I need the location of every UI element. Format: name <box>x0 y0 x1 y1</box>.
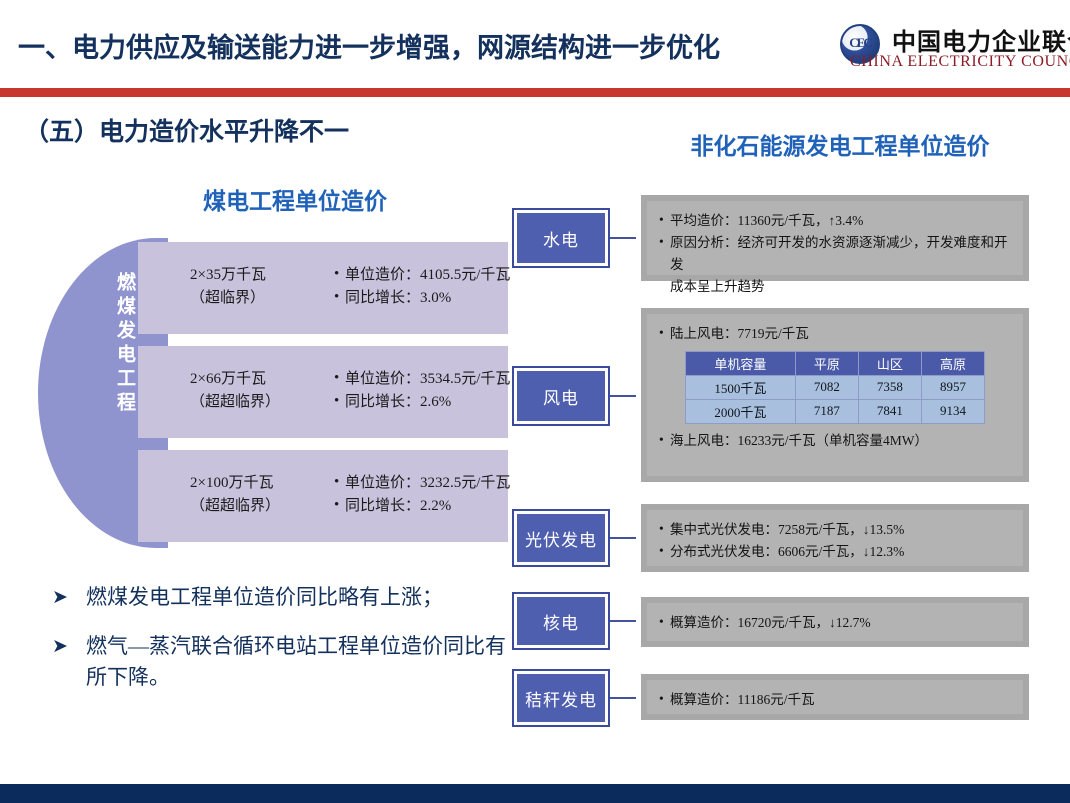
summary-notes: ➤ 燃煤发电工程单位造价同比略有上涨； ➤ 燃气—蒸汽联合循环电站工程单位造价同… <box>40 582 510 711</box>
connector-wind <box>610 395 638 397</box>
coal-diagram: 燃煤发电工程 2×35万千瓦 （超临界） 单位造价：4105.5元/千瓦 同比增… <box>38 238 508 548</box>
panel-wind: 陆上风电：7719元/千瓦 单机容量 平原 山区 高原 1500千瓦 7082 … <box>636 303 1034 487</box>
straw-budget-cost: 概算造价：11186元/千瓦 <box>659 689 1011 711</box>
category-wind[interactable]: 风电 <box>512 366 610 426</box>
coal-capacity-type: （超超临界） <box>190 391 330 414</box>
panel-solar-content: 集中式光伏发电：7258元/千瓦，↓13.5% 分布式光伏发电：6606元/千瓦… <box>647 510 1023 566</box>
cell-capacity: 1500千瓦 <box>686 375 796 399</box>
arrow-bullet-icon: ➤ <box>52 583 68 612</box>
coal-capacity-type: （超超临界） <box>190 495 330 518</box>
panel-wind-content: 陆上风电：7719元/千瓦 单机容量 平原 山区 高原 1500千瓦 7082 … <box>647 314 1023 476</box>
panel-nuclear-content: 概算造价：16720元/千瓦，↓12.7% <box>647 603 1023 641</box>
hydro-cause-analysis: 原因分析：经济可开发的水资源逐渐减少，开发难度和开发 成本呈上升趋势 <box>659 232 1011 298</box>
connector-straw <box>610 697 638 699</box>
connector-nuclear <box>610 620 638 622</box>
coal-capacity-type: （超临界） <box>190 287 330 310</box>
coal-yoy-growth: 同比增长：3.0% <box>334 287 510 310</box>
cell-mountain: 7841 <box>858 399 921 423</box>
coal-capacity-value: 2×100万千瓦 <box>190 472 330 495</box>
col-plateau: 高原 <box>921 351 984 375</box>
cell-plateau: 8957 <box>921 375 984 399</box>
table-header-row: 单机容量 平原 山区 高原 <box>686 351 985 375</box>
wind-onshore-cost: 陆上风电：7719元/千瓦 <box>659 323 1011 345</box>
connector-hydro <box>610 237 638 239</box>
category-hydro-label: 水电 <box>543 226 579 251</box>
hydro-cause-line1: 原因分析：经济可开发的水资源逐渐减少，开发难度和开发 <box>670 235 1008 272</box>
coal-capacity-value: 2×35万千瓦 <box>190 264 330 287</box>
note-text: 燃气—蒸汽联合循环电站工程单位造价同比有所下降。 <box>86 634 506 690</box>
table-row: 2000千瓦 7187 7841 9134 <box>686 399 985 423</box>
note-text: 燃煤发电工程单位造价同比略有上涨； <box>86 585 443 609</box>
coal-row-capacity: 2×35万千瓦 （超临界） <box>190 264 330 309</box>
organization-logo: 中国电力企业联合会 CHINA ELECTRICITY COUNCIL <box>840 22 1060 80</box>
category-solar[interactable]: 光伏发电 <box>512 509 610 567</box>
cell-plain: 7082 <box>795 375 858 399</box>
panel-nuclear: 概算造价：16720元/千瓦，↓12.7% <box>636 592 1034 652</box>
slide-root: 一、电力供应及输送能力进一步增强，网源结构进一步优化 中国电力企业联合会 CHI… <box>0 0 1070 803</box>
coal-yoy-growth: 同比增长：2.6% <box>334 391 510 414</box>
coal-row: 2×100万千瓦 （超超临界） 单位造价：3232.5元/千瓦 同比增长：2.2… <box>138 450 508 542</box>
coal-capacity-value: 2×66万千瓦 <box>190 368 330 391</box>
coal-row: 2×66万千瓦 （超超临界） 单位造价：3534.5元/千瓦 同比增长：2.6% <box>138 346 508 438</box>
hydro-cause-line2: 成本呈上升趋势 <box>670 276 1011 298</box>
coal-row-bullets: 单位造价：4105.5元/千瓦 同比增长：3.0% <box>334 264 510 311</box>
cell-plateau: 9134 <box>921 399 984 423</box>
cell-capacity: 2000千瓦 <box>686 399 796 423</box>
category-hydro[interactable]: 水电 <box>512 208 610 268</box>
page-title: 一、电力供应及输送能力进一步增强，网源结构进一步优化 <box>18 26 818 65</box>
category-solar-label: 光伏发电 <box>525 526 597 551</box>
category-wind-label: 风电 <box>543 384 579 409</box>
coal-row-bullets: 单位造价：3534.5元/千瓦 同比增长：2.6% <box>334 368 510 415</box>
section-title: （五）电力造价水平升降不一 <box>24 112 349 148</box>
panel-straw: 概算造价：11186元/千瓦 <box>636 669 1034 725</box>
col-plain: 平原 <box>795 351 858 375</box>
panel-hydro: 平均造价：11360元/千瓦，↑3.4% 原因分析：经济可开发的水资源逐渐减少，… <box>636 190 1034 286</box>
coal-row-bullets: 单位造价：3232.5元/千瓦 同比增长：2.2% <box>334 472 510 519</box>
list-item: ➤ 燃气—蒸汽联合循环电站工程单位造价同比有所下降。 <box>40 631 510 694</box>
coal-group-label: 燃煤发电工程 <box>100 272 134 416</box>
col-mountain: 山区 <box>858 351 921 375</box>
logo-english-name: CHINA ELECTRICITY COUNCIL <box>850 53 1070 71</box>
panel-straw-content: 概算造价：11186元/千瓦 <box>647 680 1023 714</box>
coal-unit-cost: 单位造价：3534.5元/千瓦 <box>334 368 510 391</box>
nonfossil-chart-title: 非化石能源发电工程单位造价 <box>620 127 1060 161</box>
wind-offshore-cost: 海上风电：16233元/千瓦（单机容量4MW） <box>659 430 1011 452</box>
category-nuclear[interactable]: 核电 <box>512 592 610 650</box>
logo-chinese-name: 中国电力企业联合会 <box>892 22 1070 57</box>
header-red-divider <box>0 88 1070 97</box>
nuclear-budget-cost: 概算造价：16720元/千瓦，↓12.7% <box>659 612 1011 634</box>
cell-plain: 7187 <box>795 399 858 423</box>
panel-solar: 集中式光伏发电：7258元/千瓦，↓13.5% 分布式光伏发电：6606元/千瓦… <box>636 499 1034 577</box>
coal-chart-title: 煤电工程单位造价 <box>130 182 460 216</box>
coal-unit-cost: 单位造价：4105.5元/千瓦 <box>334 264 510 287</box>
footer-bar <box>0 784 1070 803</box>
coal-row-capacity: 2×66万千瓦 （超超临界） <box>190 368 330 413</box>
category-nuclear-label: 核电 <box>543 609 579 634</box>
category-straw[interactable]: 秸秆发电 <box>512 669 610 727</box>
arrow-bullet-icon: ➤ <box>52 632 68 661</box>
hydro-average-cost: 平均造价：11360元/千瓦，↑3.4% <box>659 210 1011 232</box>
table-row: 1500千瓦 7082 7358 8957 <box>686 375 985 399</box>
coal-row: 2×35万千瓦 （超临界） 单位造价：4105.5元/千瓦 同比增长：3.0% <box>138 242 508 334</box>
connector-solar <box>610 537 638 539</box>
coal-unit-cost: 单位造价：3232.5元/千瓦 <box>334 472 510 495</box>
solar-distributed-cost: 分布式光伏发电：6606元/千瓦，↓12.3% <box>659 541 1011 563</box>
list-item: ➤ 燃煤发电工程单位造价同比略有上涨； <box>40 582 510 614</box>
category-straw-label: 秸秆发电 <box>525 686 597 711</box>
col-unit-capacity: 单机容量 <box>686 351 796 375</box>
cell-mountain: 7358 <box>858 375 921 399</box>
coal-row-capacity: 2×100万千瓦 （超超临界） <box>190 472 330 517</box>
coal-yoy-growth: 同比增长：2.2% <box>334 495 510 518</box>
panel-hydro-content: 平均造价：11360元/千瓦，↑3.4% 原因分析：经济可开发的水资源逐渐减少，… <box>647 201 1023 275</box>
wind-cost-table: 单机容量 平原 山区 高原 1500千瓦 7082 7358 8957 2000… <box>685 351 985 424</box>
solar-centralized-cost: 集中式光伏发电：7258元/千瓦，↓13.5% <box>659 519 1011 541</box>
